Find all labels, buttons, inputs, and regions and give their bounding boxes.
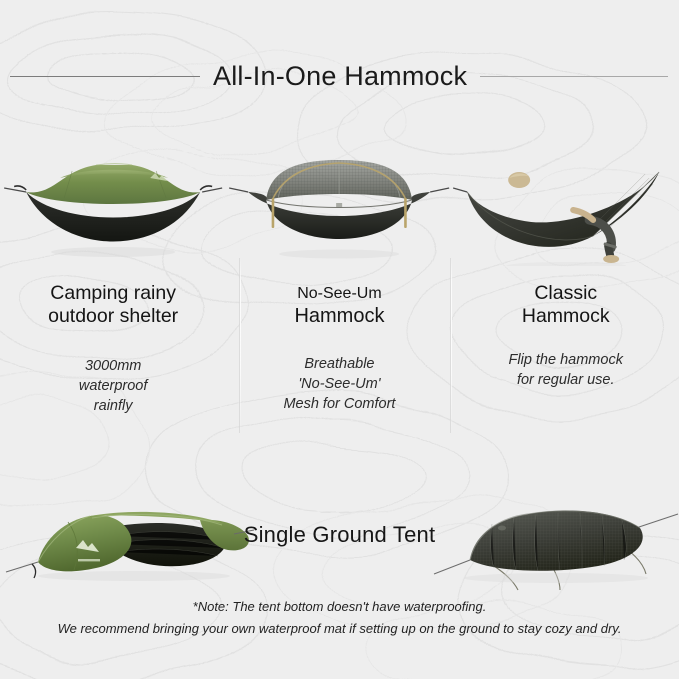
ground-tent-title: Single Ground Tent: [0, 522, 679, 548]
page-title: All-In-One Hammock: [200, 61, 480, 92]
column-heading-line1: No-See-Um: [294, 282, 384, 305]
product-column-classic-hammock: Classic Hammock Flip the hammock for reg…: [453, 148, 679, 416]
column-heading-line1: Camping rainy: [50, 282, 176, 304]
infographic-page: All-In-One Hammock: [0, 0, 679, 679]
footnote-line2: We recommend bringing your own waterproo…: [0, 618, 679, 640]
column-subtext-line2: waterproof: [79, 378, 148, 394]
product-column-no-see-um-hammock: No-See-Um Hammock Breathable 'No-See-Um'…: [226, 148, 452, 416]
product-column-camping-rainy-outdoor-shelter: Camping rainy outdoor shelter 3000mm wat…: [0, 148, 226, 416]
column-subtext-line1: Flip the hammock: [509, 352, 623, 368]
green-rainfly-hammock-image: [0, 148, 226, 266]
column-subtext-line1: Breathable: [304, 356, 374, 372]
column-heading: Classic Hammock: [522, 282, 610, 328]
footnote-line1: *Note: The tent bottom doesn't have wate…: [0, 596, 679, 618]
mesh-canopy-hammock-image: [226, 148, 452, 266]
column-subtext-line2: for regular use.: [517, 372, 615, 388]
ground-tent-section: Single Ground Tent: [0, 480, 679, 595]
column-subtext-line3: rainfly: [94, 398, 133, 414]
column-subtext-line3: Mesh for Comfort: [283, 396, 395, 412]
column-heading-line2: Hammock: [294, 305, 384, 328]
product-columns: Camping rainy outdoor shelter 3000mm wat…: [0, 148, 679, 416]
classic-hammock-image: [453, 148, 679, 266]
column-heading: No-See-Um Hammock: [294, 282, 384, 328]
header: All-In-One Hammock: [0, 55, 679, 97]
column-heading-line1: Classic: [534, 282, 597, 304]
column-subtext-line1: 3000mm: [85, 358, 141, 374]
footnote: *Note: The tent bottom doesn't have wate…: [0, 596, 679, 640]
column-heading: Camping rainy outdoor shelter: [48, 282, 178, 328]
column-heading-line2: Hammock: [522, 305, 610, 327]
title-rule-left: [10, 76, 200, 77]
column-subtext: 3000mm waterproof rainfly: [79, 356, 148, 416]
column-heading-line2: outdoor shelter: [48, 305, 178, 327]
column-subtext-line2: 'No-See-Um': [298, 376, 380, 392]
column-subtext: Breathable 'No-See-Um' Mesh for Comfort: [283, 354, 395, 414]
title-rule-right: [480, 76, 668, 77]
column-subtext: Flip the hammock for regular use.: [509, 350, 623, 390]
